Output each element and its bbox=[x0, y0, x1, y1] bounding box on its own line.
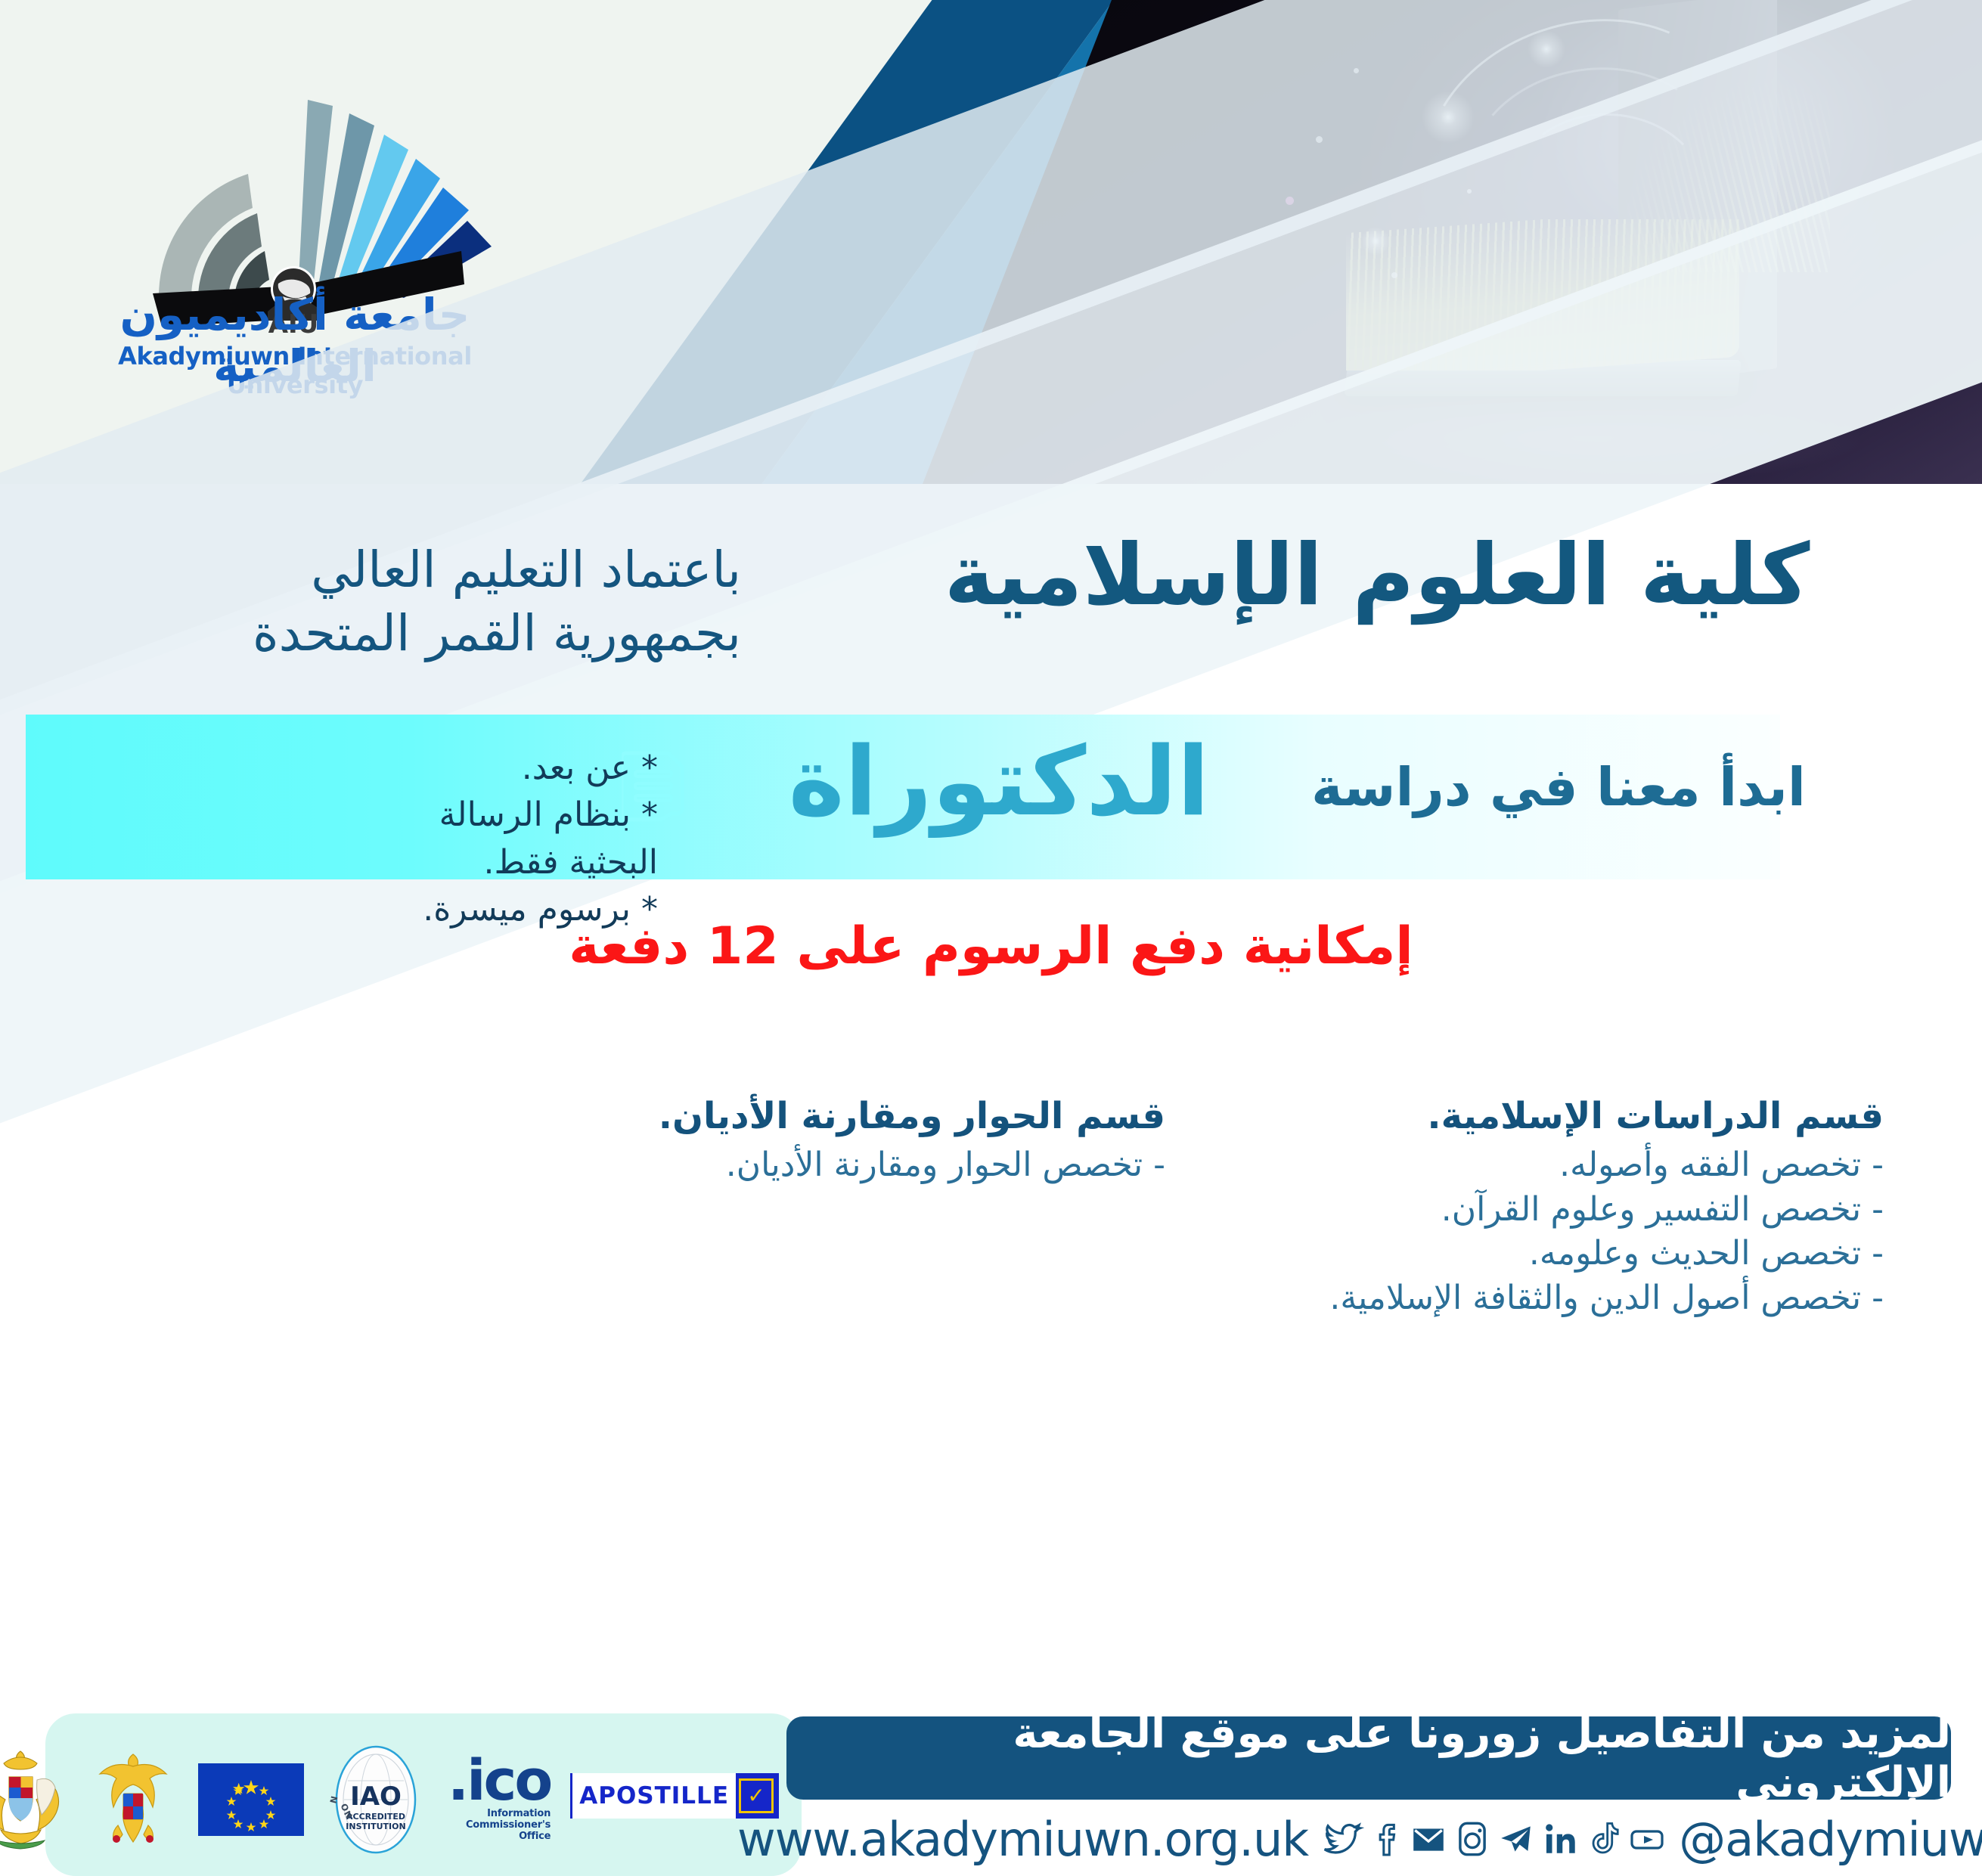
website-url[interactable]: www.akadymiuwn.org.uk bbox=[737, 1812, 1308, 1867]
twitter-icon[interactable] bbox=[1320, 1818, 1364, 1860]
svg-text:IAO: IAO bbox=[350, 1781, 402, 1812]
sparkle-2 bbox=[1528, 30, 1565, 68]
ico-badge: ico. Information Commissioner's Office bbox=[448, 1757, 551, 1843]
logo-english-name: Akadymiuwn International University bbox=[83, 342, 507, 399]
tiktok-icon[interactable] bbox=[1588, 1818, 1620, 1860]
telegram-icon[interactable] bbox=[1497, 1818, 1535, 1860]
particle-4 bbox=[1391, 272, 1397, 278]
sparkle-3 bbox=[1361, 227, 1390, 256]
ico-label: ico. bbox=[448, 1757, 551, 1806]
website-cta-bar[interactable]: لمزيد من التفاصيل زورونا على موقع الجامع… bbox=[786, 1716, 1951, 1800]
svg-text:ACCREDITED: ACCREDITED bbox=[346, 1812, 405, 1822]
european-union-flag bbox=[198, 1763, 304, 1836]
social-icons bbox=[1320, 1818, 1667, 1860]
laptop-shadow bbox=[1316, 393, 1860, 484]
accreditation-badges-row: ✓ APOSTILLE ico. Information Commissione… bbox=[68, 1754, 779, 1845]
start-study-text: ابدأ معنا في دراسة bbox=[1271, 756, 1846, 818]
particle-1 bbox=[1316, 136, 1323, 143]
feature-item-2: * بنظام الرسالة البحثية فقط. bbox=[371, 792, 658, 886]
accreditation-note: باعتماد التعليم العالي بجمهورية القمر ال… bbox=[166, 538, 741, 666]
department-islamic-studies: قسم الدراسات الإسلامية. - تخصص الفقه وأص… bbox=[1218, 1095, 1884, 1320]
degree-name: الدكتوراة bbox=[757, 726, 1241, 837]
particle-5 bbox=[1467, 189, 1472, 194]
particle-3 bbox=[1286, 197, 1294, 205]
svg-text:INSTITUTION: INSTITUTION bbox=[346, 1822, 405, 1831]
iao-badge: IAO ACCREDITED INSTITUTION INTERNATIONAL… bbox=[324, 1743, 428, 1856]
page-title: كلية العلوم الإسلامية bbox=[886, 529, 1869, 622]
particle-2 bbox=[1354, 68, 1359, 73]
department-major: - تخصص الحوار ومقارنة الأديان. bbox=[591, 1143, 1165, 1188]
department-dialogue-comparative-religion: قسم الحوار ومقارنة الأديان. - تخصص الحوا… bbox=[591, 1095, 1165, 1188]
apostille-label: APOSTILLE bbox=[572, 1773, 736, 1819]
installments-note: إمكانية دفع الرسوم على 12 دفعة bbox=[0, 916, 1982, 976]
poster-root: AIU جامعة أكاديميون العالمية Akadymiuwn … bbox=[0, 0, 1982, 1876]
department-title: قسم الدراسات الإسلامية. bbox=[1218, 1095, 1884, 1137]
united-kingdom-royal-arms bbox=[0, 1747, 68, 1853]
linkedin-icon[interactable] bbox=[1543, 1818, 1580, 1860]
instagram-icon[interactable] bbox=[1455, 1818, 1490, 1860]
department-title: قسم الحوار ومقارنة الأديان. bbox=[591, 1095, 1165, 1137]
check-icon: ✓ bbox=[739, 1778, 774, 1813]
feature-item-1: * عن بعد. bbox=[371, 745, 658, 792]
facebook-icon[interactable] bbox=[1372, 1818, 1402, 1860]
youtube-icon[interactable] bbox=[1627, 1818, 1667, 1860]
social-handle[interactable]: @akadymiuwn bbox=[1679, 1812, 1982, 1867]
degree-features-list: * عن بعد. * بنظام الرسالة البحثية فقط. *… bbox=[371, 745, 658, 934]
website-cta-text: لمزيد من التفاصيل زورونا على موقع الجامع… bbox=[786, 1709, 1951, 1807]
ico-sublabel: Information Commissioner's Office bbox=[448, 1808, 551, 1842]
accreditation-line-1: باعتماد التعليم العالي bbox=[166, 538, 741, 602]
university-logo[interactable]: AIU جامعة أكاديميون العالمية Akadymiuwn … bbox=[83, 53, 507, 378]
contact-row: www.akadymiuwn.org.uk bbox=[786, 1809, 1966, 1869]
sparkle-1 bbox=[1422, 91, 1475, 144]
accreditation-line-2: بجمهورية القمر المتحدة bbox=[166, 602, 741, 665]
header-banner: AIU جامعة أكاديميون العالمية Akadymiuwn … bbox=[0, 0, 1982, 484]
romania-coat-of-arms bbox=[88, 1747, 178, 1853]
department-major: - تخصص الفقه وأصوله. bbox=[1218, 1143, 1884, 1188]
email-icon[interactable] bbox=[1410, 1818, 1447, 1860]
department-major: - تخصص أصول الدين والثقافة الإسلامية. bbox=[1218, 1276, 1884, 1321]
department-major: - تخصص التفسير وعلوم القرآن. bbox=[1218, 1188, 1884, 1233]
department-major: - تخصص الحديث وعلومه. bbox=[1218, 1232, 1884, 1276]
